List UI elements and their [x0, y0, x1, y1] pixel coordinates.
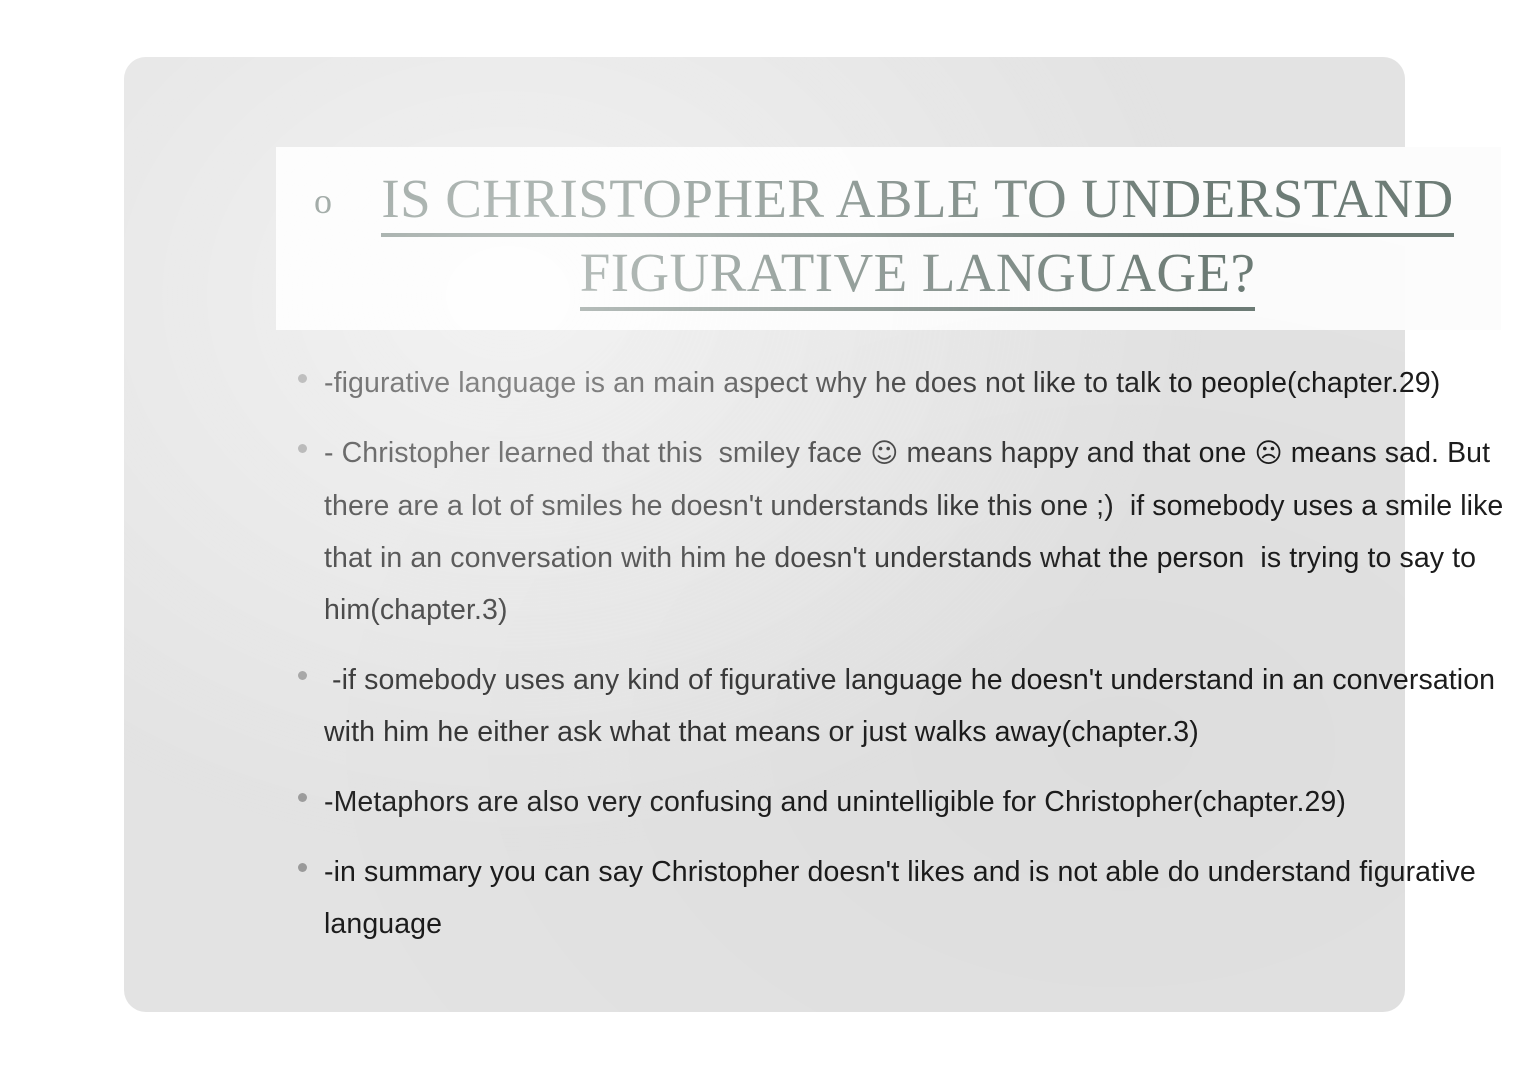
- body-bullet-list: -figurative language is an main aspect w…: [276, 357, 1516, 968]
- title-box: o IS CHRISTOPHER ABLE TO UNDERSTAND FIGU…: [276, 147, 1501, 330]
- list-item: - Christopher learned that this smiley f…: [276, 427, 1516, 636]
- bullet-dot-icon: [276, 357, 324, 383]
- list-item-text: -figurative language is an main aspect w…: [324, 357, 1516, 409]
- list-item: -in summary you can say Christopher does…: [276, 846, 1516, 950]
- title-line-2-text: FIGURATIVE LANGUAGE?: [580, 242, 1256, 311]
- list-item-text: - Christopher learned that this smiley f…: [324, 427, 1516, 636]
- list-item: -Metaphors are also very confusing and u…: [276, 776, 1516, 828]
- title-circle-bullet-icon: o: [302, 163, 360, 239]
- page-title: IS CHRISTOPHER ABLE TO UNDERSTAND FIGURA…: [360, 163, 1475, 311]
- slide-canvas: o IS CHRISTOPHER ABLE TO UNDERSTAND FIGU…: [0, 0, 1528, 1080]
- bullet-dot-icon: [276, 846, 324, 872]
- frowning-face-icon: ☹: [1254, 438, 1282, 469]
- bullet-dot-icon: [276, 427, 324, 453]
- list-item-text: -in summary you can say Christopher does…: [324, 846, 1516, 950]
- list-item: -figurative language is an main aspect w…: [276, 357, 1516, 409]
- list-item-text: -Metaphors are also very confusing and u…: [324, 776, 1516, 828]
- text-segment: - Christopher learned that this smiley f…: [324, 437, 870, 469]
- text-segment: means happy and that one: [899, 437, 1255, 469]
- smiling-face-icon: ☺: [870, 438, 898, 469]
- bullet-dot-icon: [276, 654, 324, 680]
- slide-content-panel: o IS CHRISTOPHER ABLE TO UNDERSTAND FIGU…: [124, 57, 1405, 1012]
- title-line-2: FIGURATIVE LANGUAGE?: [360, 237, 1475, 311]
- list-item: -if somebody uses any kind of figurative…: [276, 654, 1516, 758]
- bullet-dot-icon: [276, 776, 324, 802]
- title-row: o IS CHRISTOPHER ABLE TO UNDERSTAND FIGU…: [302, 163, 1475, 311]
- title-line-1-text: IS CHRISTOPHER ABLE TO UNDERSTAND: [381, 168, 1453, 237]
- title-line-1: IS CHRISTOPHER ABLE TO UNDERSTAND: [360, 163, 1475, 237]
- list-item-text: -if somebody uses any kind of figurative…: [324, 654, 1516, 758]
